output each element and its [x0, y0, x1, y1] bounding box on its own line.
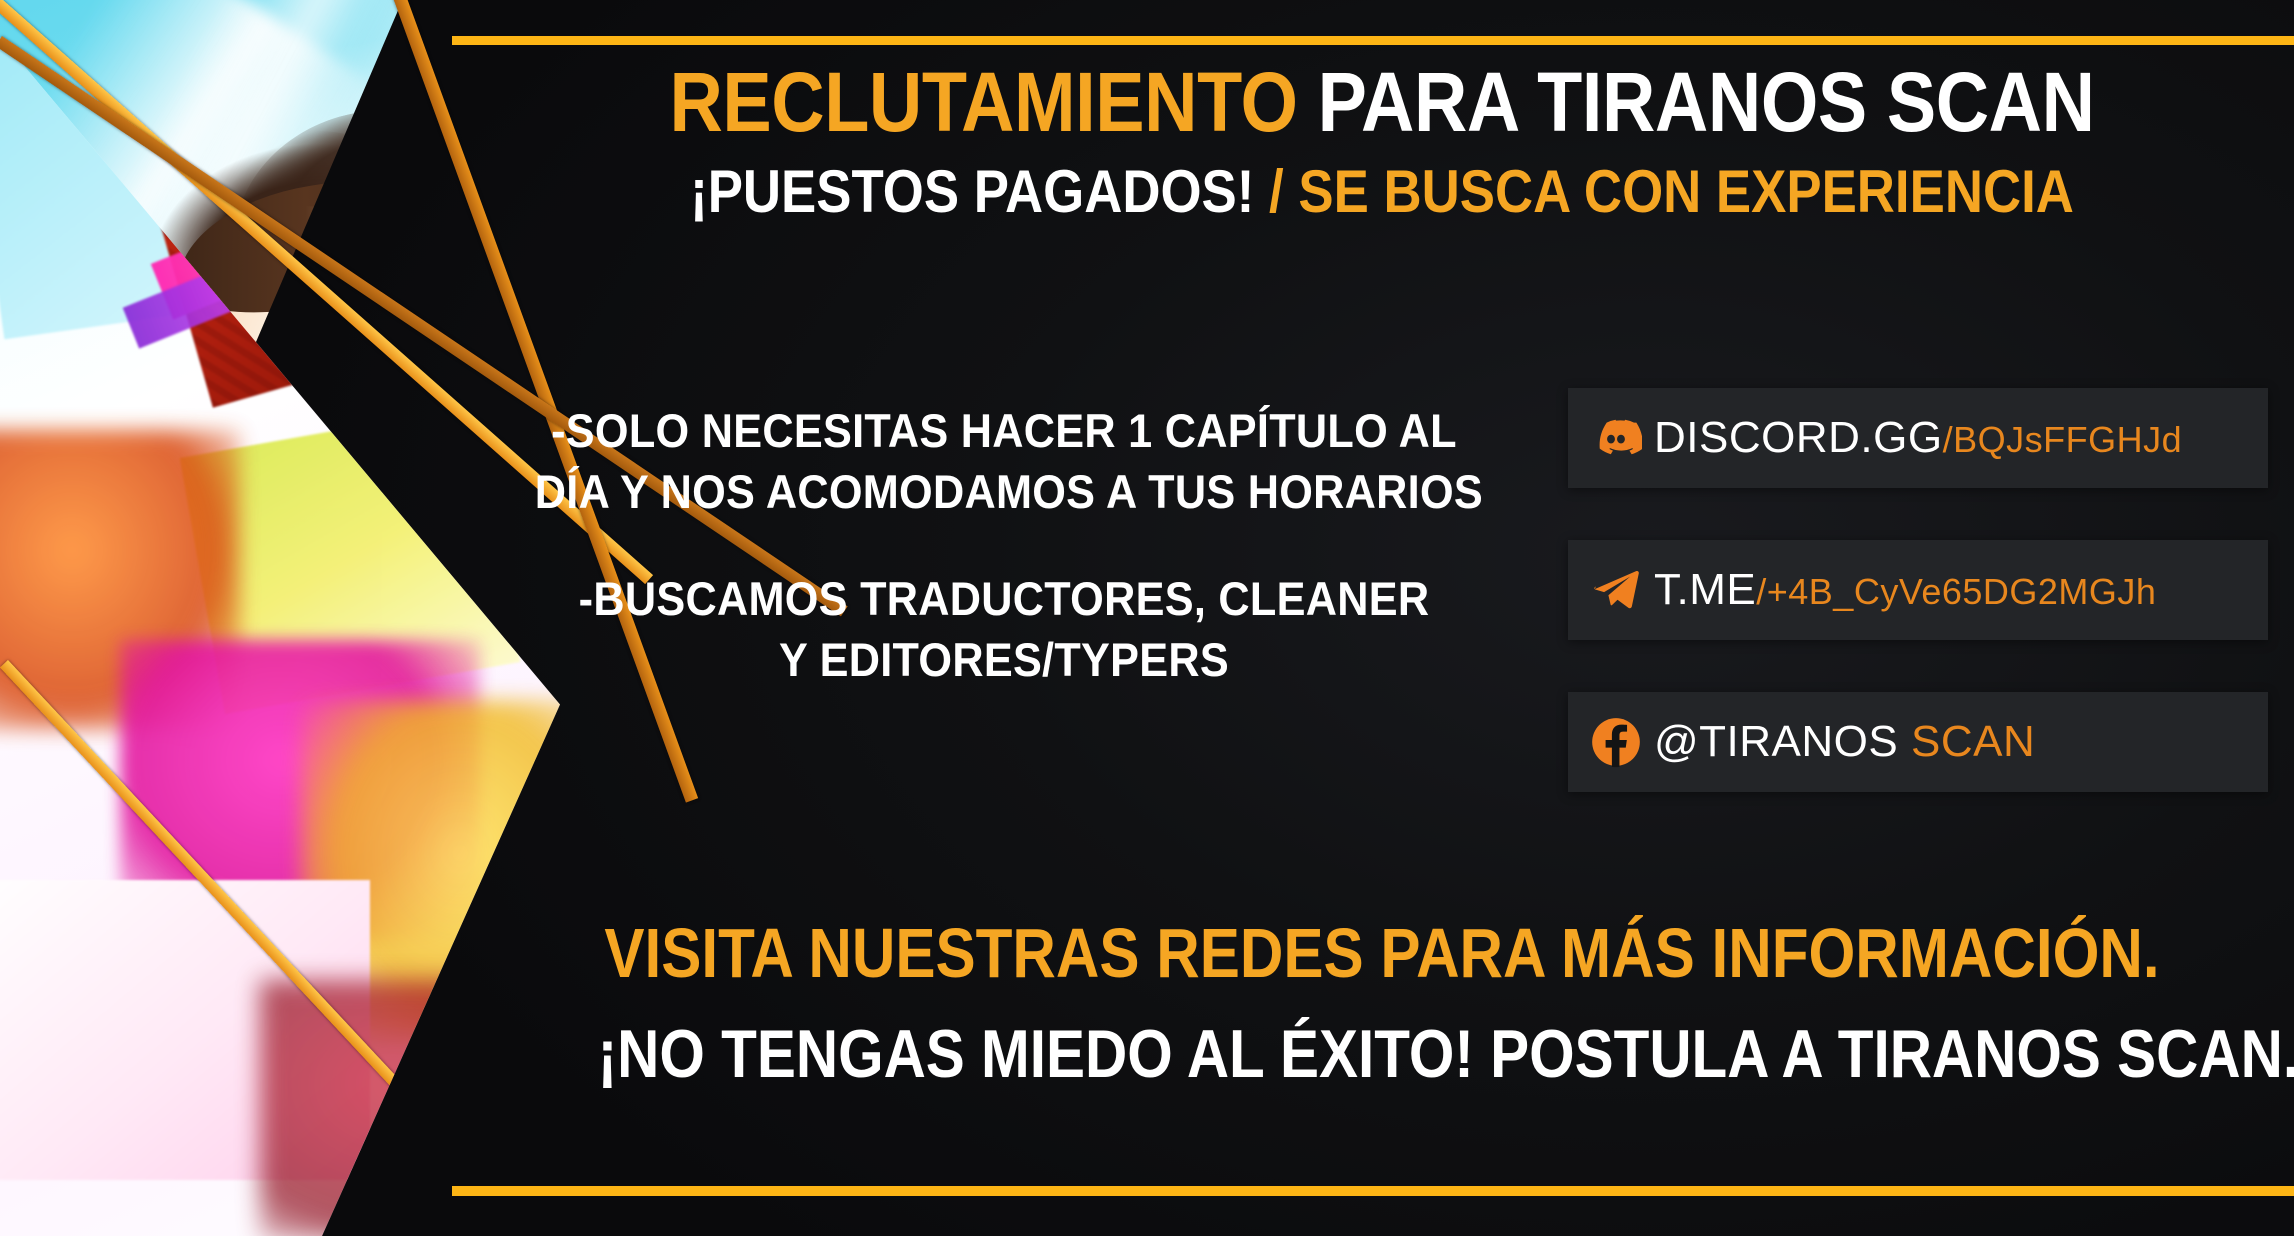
discord-icon: [1590, 412, 1642, 464]
requirement-line: Y EDITORES/TYPERS: [535, 629, 1473, 690]
requirement-line: DÍA Y NOS ACOMODAMOS A TUS HORARIOS: [535, 461, 1473, 522]
character-nose: [397, 396, 440, 415]
discord-invite-code: /BQJsFFGHJd: [1943, 419, 2183, 460]
cta-line-2: ¡NO TENGAS MIEDO AL ÉXITO! POSTULA A TIR…: [598, 1018, 2167, 1091]
page-title: RECLUTAMIENTO PARA TIRANOS SCAN: [579, 60, 2184, 146]
heading-block: RECLUTAMIENTO PARA TIRANOS SCAN ¡PUESTOS…: [470, 60, 2294, 223]
telegram-invite-code: /+4B_CyVe65DG2MGJh: [1756, 571, 2156, 612]
requirement-line: -SOLO NECESITAS HACER 1 CAPÍTULO AL: [535, 400, 1473, 461]
facebook-handle-suffix: SCAN: [1898, 717, 2035, 766]
telegram-icon: [1590, 564, 1642, 616]
telegram-domain: T.ME: [1654, 565, 1756, 614]
contact-text-discord: DISCORD.GG/BQJsFFGHJd: [1654, 416, 2182, 460]
top-gold-rule: [452, 36, 2294, 45]
bottom-gold-rule: [452, 1186, 2294, 1196]
character-mouth: [375, 432, 456, 470]
contact-list: DISCORD.GG/BQJsFFGHJd T.ME/+4B_CyVe65DG2…: [1568, 388, 2268, 844]
title-rest: PARA TIRANOS SCAN: [1298, 55, 2095, 149]
contact-card-discord[interactable]: DISCORD.GG/BQJsFFGHJd: [1568, 388, 2268, 488]
requirement-line: -BUSCAMOS TRADUCTORES, CLEANER: [535, 568, 1473, 629]
contact-card-telegram[interactable]: T.ME/+4B_CyVe65DG2MGJh: [1568, 540, 2268, 640]
requirement-item: -BUSCAMOS TRADUCTORES, CLEANER Y EDITORE…: [535, 568, 1473, 690]
facebook-handle: @TIRANOS: [1654, 717, 1898, 766]
page-subtitle: ¡PUESTOS PAGADOS! / SE BUSCA CON EXPERIE…: [579, 160, 2184, 223]
discord-domain: DISCORD.GG: [1654, 413, 1943, 462]
contact-card-facebook[interactable]: @TIRANOS SCAN: [1568, 692, 2268, 792]
subtitle-paid: ¡PUESTOS PAGADOS!: [690, 158, 1254, 225]
content-column: RECLUTAMIENTO PARA TIRANOS SCAN ¡PUESTOS…: [470, 0, 2294, 1236]
requirement-item: -SOLO NECESITAS HACER 1 CAPÍTULO AL DÍA …: [535, 400, 1473, 522]
subtitle-experience: / SE BUSCA CON EXPERIENCIA: [1254, 158, 2074, 225]
facebook-icon: [1590, 716, 1642, 768]
recruitment-banner: RECLUTAMIENTO PARA TIRANOS SCAN ¡PUESTOS…: [0, 0, 2294, 1236]
requirements-list: -SOLO NECESITAS HACER 1 CAPÍTULO AL DÍA …: [535, 400, 1473, 690]
cta-line-1: VISITA NUESTRAS REDES PARA MÁS INFORMACI…: [598, 916, 2167, 992]
call-to-action: VISITA NUESTRAS REDES PARA MÁS INFORMACI…: [470, 916, 2294, 1091]
contact-text-telegram: T.ME/+4B_CyVe65DG2MGJh: [1654, 568, 2156, 612]
title-highlight: RECLUTAMIENTO: [669, 55, 1297, 149]
contact-text-facebook: @TIRANOS SCAN: [1654, 720, 2035, 764]
